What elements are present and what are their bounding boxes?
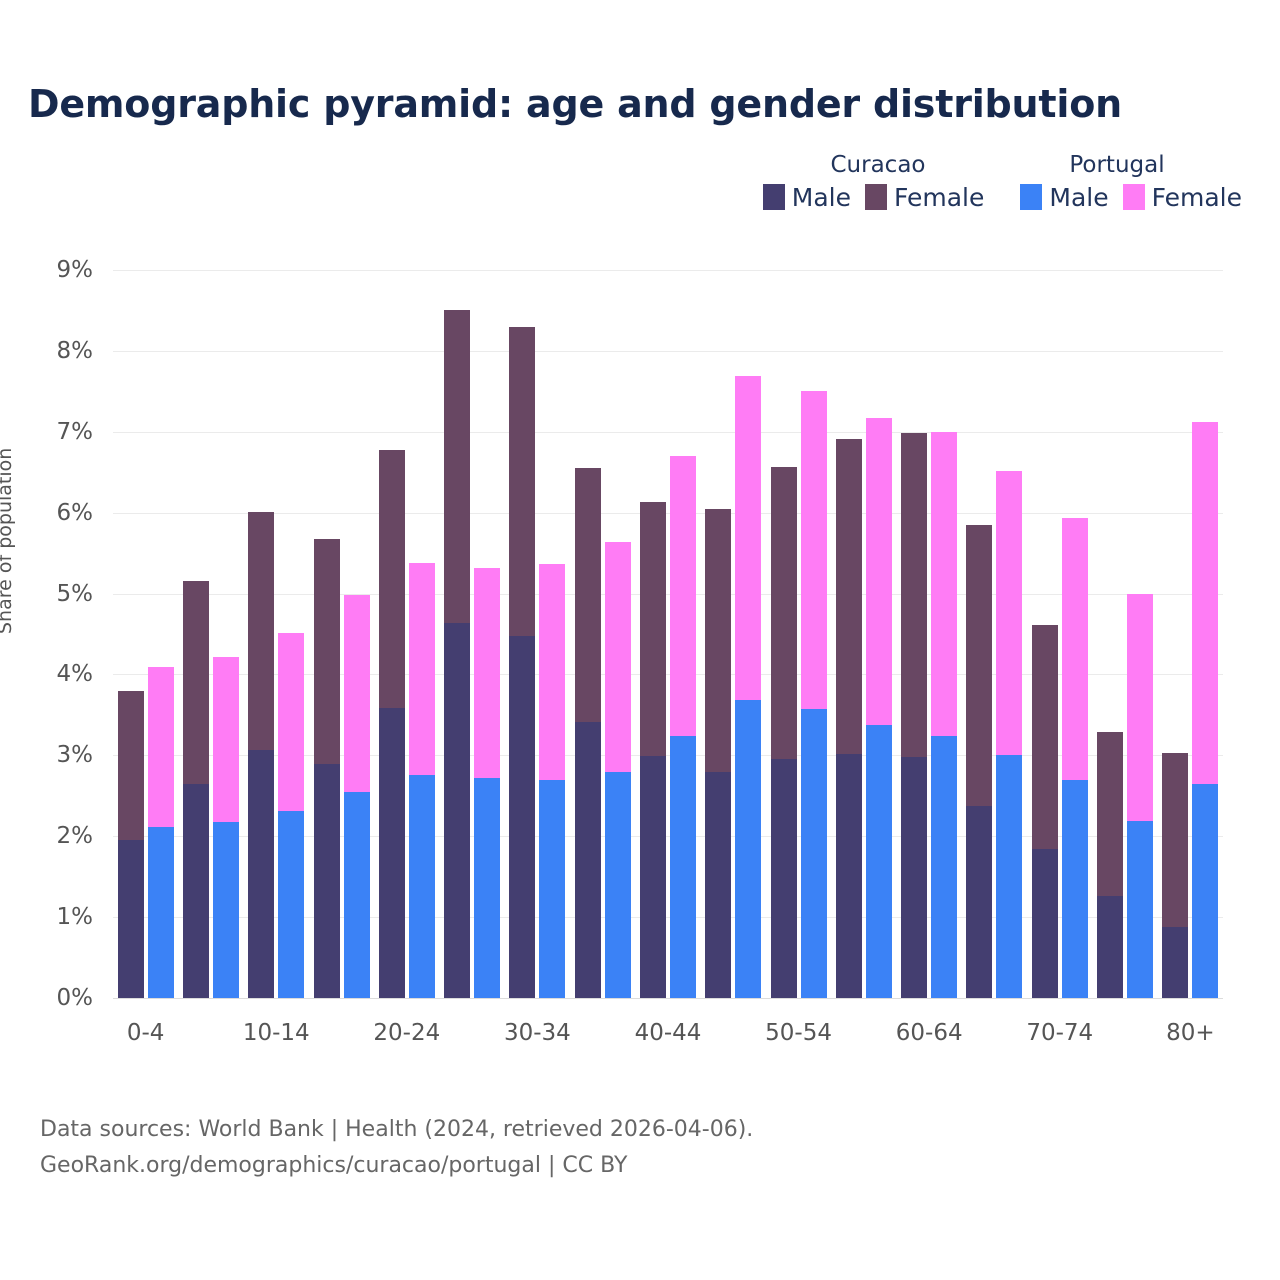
legend-label-curacao-female: Female — [894, 185, 984, 210]
bar-segment-male[interactable] — [1192, 784, 1218, 998]
bar-segment-female[interactable] — [771, 467, 797, 759]
bar-group — [1092, 270, 1157, 998]
bar-segment-female[interactable] — [248, 512, 274, 751]
x-axis-tick-label: 0-4 — [127, 1020, 165, 1046]
bar-segment-male[interactable] — [1127, 821, 1153, 998]
bar-segment-female[interactable] — [1127, 594, 1153, 821]
bars-layer — [113, 270, 1223, 998]
bar-segment-female[interactable] — [1162, 753, 1188, 927]
bar-segment-male[interactable] — [575, 722, 601, 998]
bar-portugal[interactable] — [409, 563, 435, 998]
bar-segment-male[interactable] — [931, 736, 957, 998]
bar-segment-female[interactable] — [996, 471, 1022, 756]
bar-group — [178, 270, 243, 998]
x-axis-tick-label: 10-14 — [243, 1020, 310, 1046]
x-axis-tick-label: 60-64 — [896, 1020, 963, 1046]
bar-segment-male[interactable] — [605, 772, 631, 998]
bar-segment-male[interactable] — [640, 756, 666, 998]
y-axis-tick-label: 7% — [57, 419, 94, 445]
bar-curacao[interactable] — [1032, 625, 1058, 998]
x-axis-tick-label: 80+ — [1166, 1020, 1215, 1046]
bar-group — [439, 270, 504, 998]
bar-segment-male[interactable] — [539, 780, 565, 998]
bar-segment-male[interactable] — [1032, 849, 1058, 998]
y-axis-tick-label: 8% — [57, 338, 94, 364]
bar-segment-male[interactable] — [379, 708, 405, 998]
bar-segment-male[interactable] — [248, 750, 274, 998]
footer-data-sources: Data sources: World Bank | Health (2024,… — [40, 1112, 753, 1148]
legend-swatches: Male Female Male Female — [763, 184, 1242, 210]
bar-segment-male[interactable] — [670, 736, 696, 998]
legend-entry-curacao-female[interactable]: Female — [865, 184, 984, 210]
bar-portugal[interactable] — [996, 471, 1022, 998]
bar-group — [766, 270, 831, 998]
bar-curacao[interactable] — [1162, 753, 1188, 998]
x-axis-tick-label: 70-74 — [1026, 1020, 1093, 1046]
bar-portugal[interactable] — [1127, 594, 1153, 998]
bar-group — [244, 270, 309, 998]
bar-portugal[interactable] — [801, 391, 827, 998]
bar-segment-male[interactable] — [735, 700, 761, 998]
bar-portugal[interactable] — [213, 657, 239, 998]
bar-segment-female[interactable] — [1192, 422, 1218, 784]
bar-segment-male[interactable] — [996, 755, 1022, 998]
plot-area — [113, 270, 1223, 998]
bar-segment-female[interactable] — [539, 564, 565, 781]
legend-label-portugal-male: Male — [1049, 185, 1108, 210]
legend-label-curacao-male: Male — [792, 185, 851, 210]
gridline — [113, 998, 1223, 999]
bar-segment-male[interactable] — [901, 757, 927, 998]
bar-segment-female[interactable] — [575, 468, 601, 722]
bar-curacao[interactable] — [183, 581, 209, 998]
bar-segment-female[interactable] — [1062, 518, 1088, 780]
bar-segment-male[interactable] — [118, 840, 144, 998]
footer: Data sources: World Bank | Health (2024,… — [40, 1112, 753, 1185]
bar-segment-male[interactable] — [344, 792, 370, 998]
bar-segment-male[interactable] — [801, 709, 827, 998]
x-axis-tick-label: 50-54 — [765, 1020, 832, 1046]
bar-group — [831, 270, 896, 998]
bar-group — [1027, 270, 1092, 998]
bar-segment-male[interactable] — [474, 778, 500, 998]
bar-segment-male[interactable] — [1162, 927, 1188, 998]
y-axis-tick-label: 4% — [57, 661, 94, 687]
y-axis-tick-label: 0% — [57, 985, 94, 1011]
bar-curacao[interactable] — [379, 450, 405, 998]
y-axis-tick-label: 2% — [57, 823, 94, 849]
bar-segment-male[interactable] — [966, 806, 992, 999]
bar-curacao[interactable] — [118, 691, 144, 998]
legend-group-title-curacao: Curacao — [764, 152, 992, 178]
bar-segment-male[interactable] — [705, 772, 731, 998]
bar-segment-female[interactable] — [640, 502, 666, 756]
bar-segment-female[interactable] — [1032, 625, 1058, 849]
bar-segment-female[interactable] — [931, 432, 957, 736]
bar-portugal[interactable] — [1062, 518, 1088, 998]
bar-curacao[interactable] — [966, 525, 992, 998]
bar-portugal[interactable] — [931, 432, 957, 998]
bar-group — [962, 270, 1027, 998]
x-axis-tick-label: 40-44 — [635, 1020, 702, 1046]
bar-portugal[interactable] — [474, 568, 500, 998]
x-axis-tick-label: 20-24 — [373, 1020, 440, 1046]
bar-curacao[interactable] — [1097, 732, 1123, 998]
bar-segment-female[interactable] — [670, 456, 696, 736]
bar-segment-female[interactable] — [966, 525, 992, 806]
bar-segment-female[interactable] — [213, 657, 239, 823]
bar-segment-male[interactable] — [1062, 780, 1088, 998]
bar-curacao[interactable] — [509, 327, 535, 998]
bar-curacao[interactable] — [640, 502, 666, 998]
bar-segment-female[interactable] — [118, 691, 144, 841]
bar-segment-male[interactable] — [148, 827, 174, 998]
bar-segment-female[interactable] — [344, 595, 370, 792]
bar-segment-female[interactable] — [278, 633, 304, 811]
bar-group — [374, 270, 439, 998]
legend-group-titles: Curacao Portugal — [764, 152, 1242, 178]
bar-segment-female[interactable] — [836, 439, 862, 754]
bar-segment-female[interactable] — [605, 542, 631, 772]
bar-segment-female[interactable] — [379, 450, 405, 708]
legend-entry-curacao-male[interactable]: Male — [763, 184, 851, 210]
bar-portugal[interactable] — [344, 595, 370, 998]
bar-curacao[interactable] — [314, 539, 340, 998]
x-axis-ticks: 0-410-1420-2430-3440-4450-5460-6470-7480… — [113, 1020, 1223, 1060]
bar-curacao[interactable] — [248, 512, 274, 998]
bar-curacao[interactable] — [771, 467, 797, 998]
bar-curacao[interactable] — [705, 509, 731, 998]
chart-page: Demographic pyramid: age and gender dist… — [0, 0, 1280, 1280]
bar-group — [701, 270, 766, 998]
bar-portugal[interactable] — [278, 633, 304, 998]
bar-segment-female[interactable] — [901, 433, 927, 757]
legend-swatch-icon-portugal-male — [1020, 184, 1042, 210]
bar-portugal[interactable] — [735, 376, 761, 998]
bar-portugal[interactable] — [539, 564, 565, 998]
legend-swatch-icon-curacao-male — [763, 184, 785, 210]
bar-segment-female[interactable] — [444, 310, 470, 622]
y-axis-ticks: 0%1%2%3%4%5%6%7%8%9% — [0, 270, 105, 998]
chart-legend: Curacao Portugal Male Female Male Female — [763, 152, 1242, 210]
y-axis-tick-label: 3% — [57, 742, 94, 768]
y-axis-tick-label: 5% — [57, 581, 94, 607]
bar-segment-male[interactable] — [866, 725, 892, 998]
bar-segment-female[interactable] — [866, 418, 892, 725]
page-title: Demographic pyramid: age and gender dist… — [28, 82, 1122, 126]
bar-segment-male[interactable] — [771, 759, 797, 998]
bar-segment-female[interactable] — [314, 539, 340, 764]
footer-attribution: GeoRank.org/demographics/curacao/portuga… — [40, 1148, 753, 1184]
bar-segment-male[interactable] — [213, 822, 239, 998]
bar-segment-male[interactable] — [409, 775, 435, 998]
bar-segment-male[interactable] — [183, 784, 209, 998]
legend-group-title-portugal: Portugal — [992, 152, 1242, 178]
bar-group — [309, 270, 374, 998]
y-axis-tick-label: 9% — [57, 257, 94, 283]
x-axis-tick-label: 30-34 — [504, 1020, 571, 1046]
bar-segment-female[interactable] — [705, 509, 731, 772]
bar-segment-male[interactable] — [509, 636, 535, 998]
bar-group — [570, 270, 635, 998]
bar-segment-male[interactable] — [836, 754, 862, 998]
bar-segment-female[interactable] — [509, 327, 535, 636]
bar-portugal[interactable] — [670, 456, 696, 998]
bar-group — [505, 270, 570, 998]
bar-portugal[interactable] — [605, 542, 631, 998]
bar-portugal[interactable] — [866, 418, 892, 998]
bar-portugal[interactable] — [1192, 422, 1218, 998]
bar-curacao[interactable] — [444, 310, 470, 998]
bar-curacao[interactable] — [836, 439, 862, 998]
bar-segment-male[interactable] — [444, 623, 470, 998]
bar-segment-male[interactable] — [1097, 896, 1123, 998]
legend-entry-portugal-male[interactable]: Male — [1020, 184, 1108, 210]
bar-segment-female[interactable] — [474, 568, 500, 778]
legend-entry-portugal-female[interactable]: Female — [1123, 184, 1242, 210]
y-axis-tick-label: 6% — [57, 500, 94, 526]
bar-curacao[interactable] — [901, 433, 927, 998]
bar-group — [635, 270, 700, 998]
legend-swatch-icon-curacao-female — [865, 184, 887, 210]
bar-segment-female[interactable] — [409, 563, 435, 775]
y-axis-tick-label: 1% — [57, 904, 94, 930]
bar-curacao[interactable] — [575, 468, 601, 998]
bar-segment-female[interactable] — [1097, 732, 1123, 896]
legend-swatch-icon-portugal-female — [1123, 184, 1145, 210]
bar-portugal[interactable] — [148, 667, 174, 998]
bar-segment-female[interactable] — [183, 581, 209, 784]
bar-group — [1158, 270, 1223, 998]
legend-label-portugal-female: Female — [1152, 185, 1242, 210]
bar-segment-male[interactable] — [278, 811, 304, 998]
bar-group — [113, 270, 178, 998]
bar-segment-male[interactable] — [314, 764, 340, 998]
bar-segment-female[interactable] — [148, 667, 174, 827]
bar-segment-female[interactable] — [735, 376, 761, 700]
bar-segment-female[interactable] — [801, 391, 827, 709]
bar-group — [897, 270, 962, 998]
